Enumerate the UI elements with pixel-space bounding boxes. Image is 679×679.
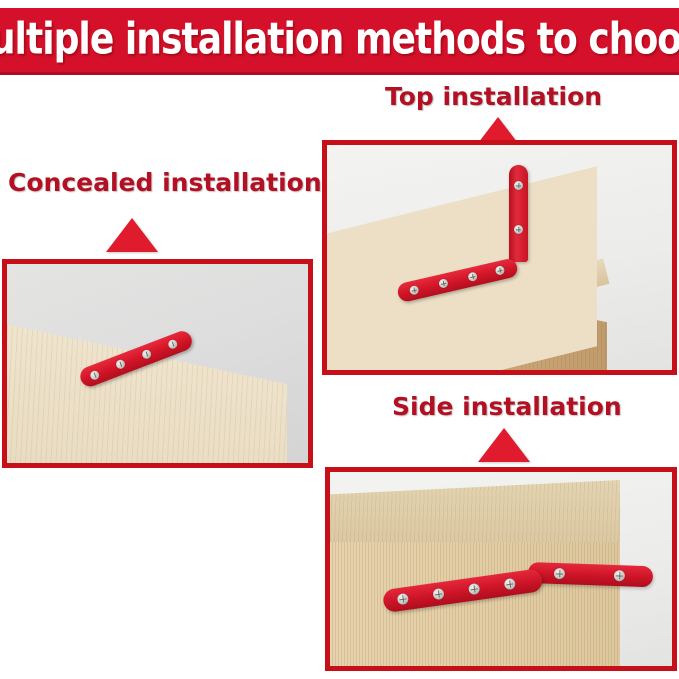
photo-top-scene [327, 145, 672, 370]
screw-icon [438, 278, 449, 289]
bracket-vertical-arm [509, 165, 528, 262]
screw-icon [614, 570, 625, 581]
up-triangle-icon-concealed [106, 218, 158, 252]
screw-icon [432, 588, 444, 600]
photo-side-scene [330, 472, 672, 666]
photo-side-installation [325, 467, 677, 671]
screw-icon [89, 369, 101, 381]
screw-icon [504, 578, 516, 590]
photo-concealed-scene [7, 264, 308, 463]
infographic-canvas: Multiple installation methods to choose … [0, 0, 679, 679]
page-title: Multiple installation methods to choose [0, 13, 679, 64]
label-concealed-installation: Concealed installation [8, 168, 322, 197]
screw-icon [514, 225, 523, 234]
photo-concealed-installation [2, 259, 313, 468]
screw-icon [409, 285, 420, 296]
screw-icon [115, 358, 127, 370]
label-top-installation: Top installation [385, 82, 602, 111]
header-banner: Multiple installation methods to choose [0, 8, 679, 75]
screw-icon [397, 593, 409, 605]
label-side-installation: Side installation [392, 392, 622, 421]
screw-icon [554, 568, 565, 579]
screw-icon [468, 583, 480, 595]
screw-icon [495, 265, 506, 276]
up-triangle-icon-side [478, 428, 530, 462]
screw-icon [167, 338, 179, 350]
photo-top-installation [322, 140, 677, 375]
screw-icon [467, 271, 478, 282]
bracket-strap-wall-side [528, 562, 654, 587]
screw-icon [514, 181, 523, 190]
screw-icon [141, 348, 153, 360]
